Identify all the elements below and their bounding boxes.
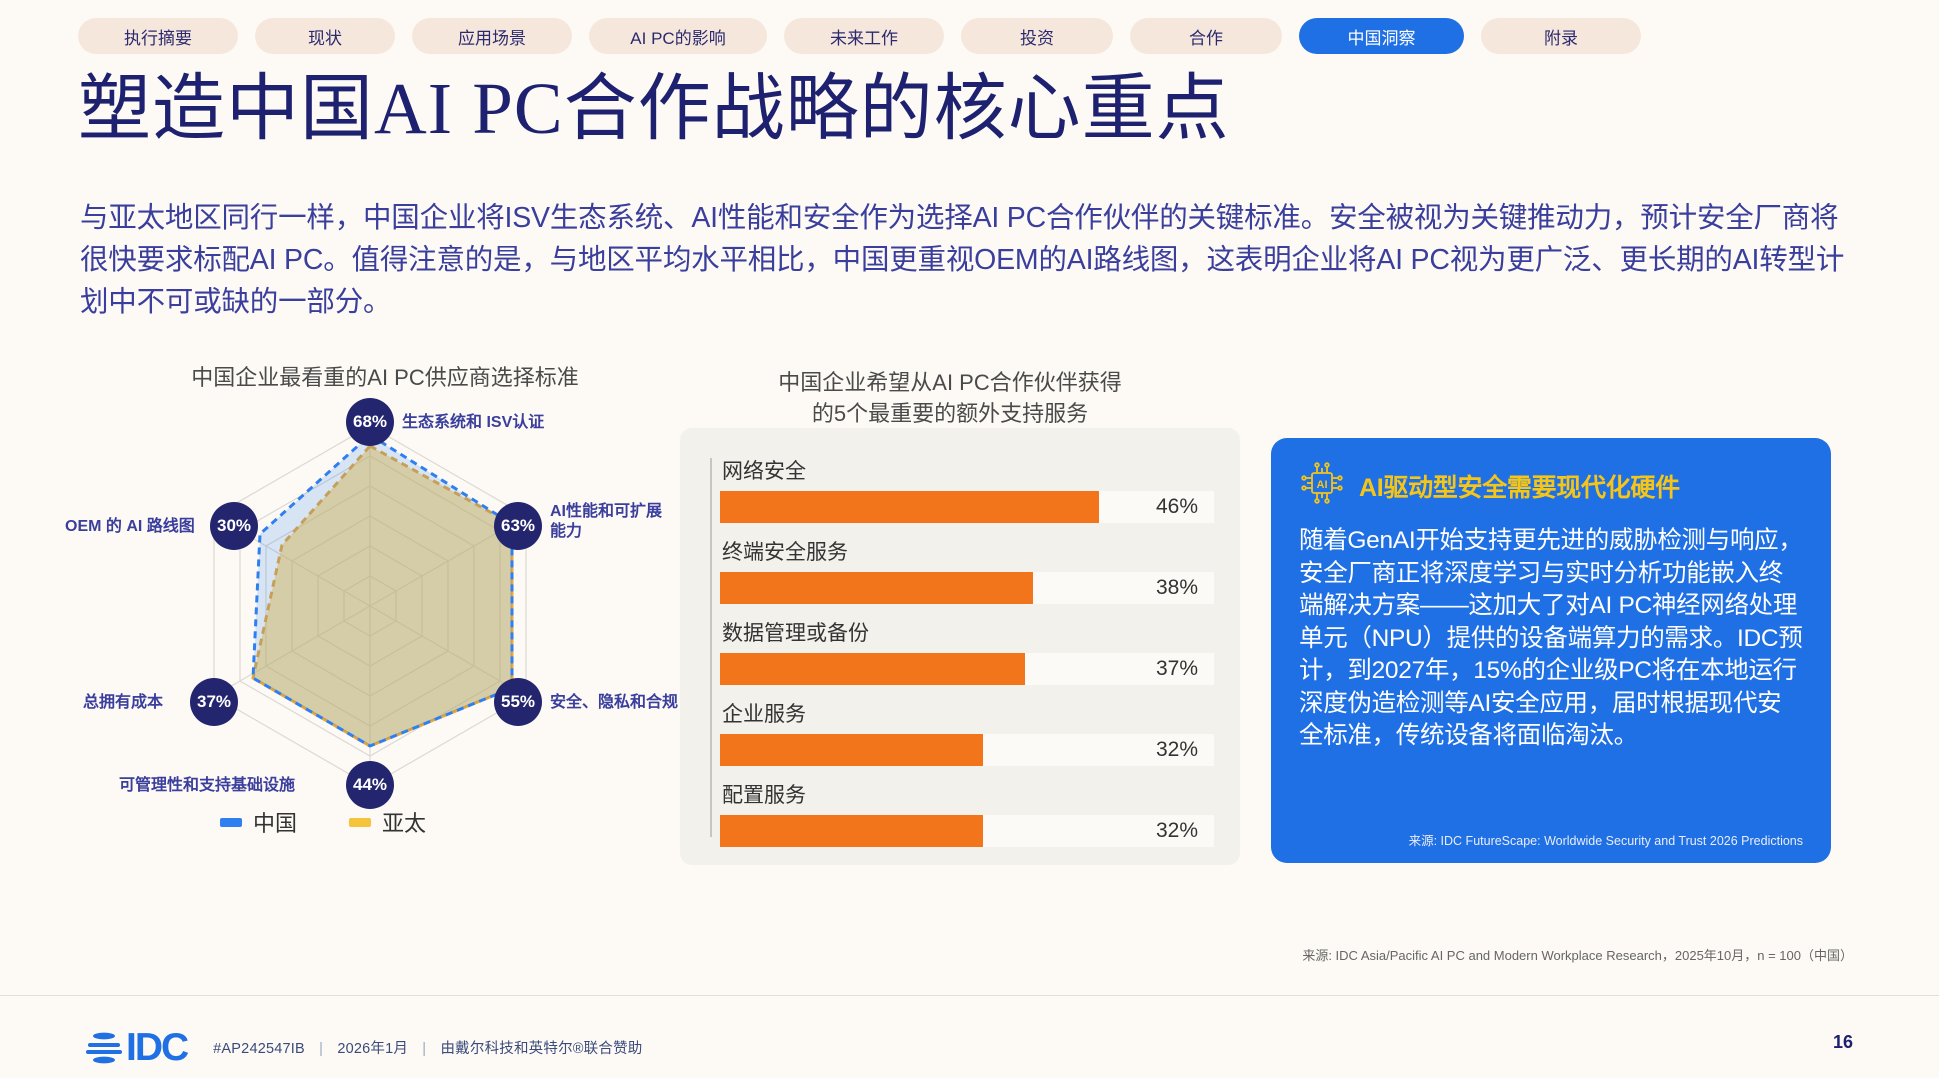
bar-row-label: 企业服务	[720, 687, 1214, 734]
source-note: 来源: IDC Asia/Pacific AI PC and Modern Wo…	[1302, 945, 1853, 964]
nav-tab-7-active[interactable]: 中国洞察	[1299, 18, 1464, 54]
nav-tab-label: 未来工作	[830, 24, 898, 49]
radar-value-node-5: 30%	[210, 502, 258, 550]
bar-fill	[720, 653, 1025, 685]
bar-track: 32%	[720, 734, 1214, 766]
nav-tab-4[interactable]: 未来工作	[784, 18, 944, 54]
footer: IDC #AP242547IB | 2026年1月 | 由戴尔科技和英特尔®联合…	[86, 1028, 642, 1067]
idc-logo: IDC	[86, 1028, 187, 1067]
page-title: 塑造中国AI PC合作战略的核心重点	[78, 72, 1230, 145]
nav-tab-label: 合作	[1189, 24, 1223, 49]
callout-source: 来源: IDC FutureScape: Worldwide Security …	[1409, 830, 1803, 849]
legend-item-asia-pacific: 亚太	[349, 806, 426, 838]
radar-axis-label-0: 生态系统和 ISV认证	[402, 413, 544, 433]
nav-tab-3[interactable]: AI PC的影响	[589, 18, 767, 54]
bar-fill	[720, 491, 1099, 523]
idc-wordmark: IDC	[126, 1028, 187, 1067]
radar-series-china	[253, 435, 512, 746]
bar-track: 37%	[720, 653, 1214, 685]
radar-axis-label-5: OEM 的 AI 路线图	[65, 517, 195, 537]
footer-date: 2026年1月	[337, 1041, 408, 1057]
bar-row-label: 配置服务	[720, 768, 1214, 815]
radar-axis-label-2: 安全、隐私和合规	[550, 693, 678, 713]
nav-tab-label: 中国洞察	[1348, 24, 1416, 49]
bar-chart-card: 网络安全 46% 终端安全服务 38% 数据管理或备份 37% 企业服务	[680, 428, 1240, 865]
ai-chip-icon: AI	[1299, 460, 1345, 511]
callout-title: AI驱动型安全需要现代化硬件	[1359, 468, 1680, 504]
nav-tab-label: 附录	[1544, 24, 1578, 49]
nav-tab-label: 投资	[1020, 24, 1054, 49]
bar-chart-title: 中国企业希望从AI PC合作伙伴获得 的5个最重要的额外支持服务	[700, 368, 1200, 430]
bar-fill	[720, 815, 983, 847]
callout-header: AI AI驱动型安全需要现代化硬件	[1299, 460, 1803, 511]
footer-divider	[0, 995, 1939, 996]
radar-chart-svg	[70, 406, 730, 836]
footer-meta: #AP242547IB | 2026年1月 | 由戴尔科技和英特尔®联合赞助	[213, 1037, 642, 1058]
bar-value-label: 37%	[1156, 657, 1198, 681]
radar-axis-label-4: 总拥有成本	[83, 693, 163, 713]
radar-value-node-0: 68%	[346, 398, 394, 446]
radar-value-node-1: 63%	[494, 502, 542, 550]
legend-label: 中国	[253, 806, 297, 838]
nav-tab-label: 执行摘要	[124, 24, 192, 49]
bar-track: 46%	[720, 491, 1214, 523]
radar-value-node-3: 44%	[346, 761, 394, 809]
bar-fill	[720, 572, 1033, 604]
nav-tab-label: 现状	[308, 24, 342, 49]
idc-globe-icon	[86, 1029, 122, 1067]
nav-tab-6[interactable]: 合作	[1130, 18, 1282, 54]
nav-tab-5[interactable]: 投资	[961, 18, 1113, 54]
radar-axis-label-1: AI性能和可扩展能力	[550, 502, 670, 542]
nav-tab-0[interactable]: 执行摘要	[78, 18, 238, 54]
bar-row-label: 数据管理或备份	[720, 606, 1214, 653]
bar-row: 企业服务 32%	[710, 687, 1214, 766]
radar-chart-panel: 中国企业最看重的AI PC供应商选择标准 6	[70, 360, 730, 836]
bar-row-label: 终端安全服务	[720, 525, 1214, 572]
radar-value-node-2: 55%	[494, 678, 542, 726]
footer-separator: |	[319, 1041, 323, 1057]
nav-tab-1[interactable]: 现状	[255, 18, 395, 54]
nav-tab-label: 应用场景	[458, 24, 526, 49]
radar-legend: 中国 亚太	[220, 806, 426, 838]
bar-track: 38%	[720, 572, 1214, 604]
bar-value-label: 38%	[1156, 576, 1198, 600]
bar-track: 32%	[720, 815, 1214, 847]
nav-tab-2[interactable]: 应用场景	[412, 18, 572, 54]
callout-panel: AI AI驱动型安全需要现代化硬件 随着GenAI开始支持更先进的威胁检测与响应…	[1271, 438, 1831, 863]
legend-item-china: 中国	[220, 806, 297, 838]
radar-chart-area: 68% 生态系统和 ISV认证 63% AI性能和可扩展能力 55% 安全、隐私…	[70, 406, 730, 836]
page-number: 16	[1833, 1032, 1853, 1053]
bar-value-label: 32%	[1156, 819, 1198, 843]
radar-value-node-4: 37%	[190, 678, 238, 726]
callout-body: 随着GenAI开始支持更先进的威胁检测与响应，安全厂商正将深度学习与实时分析功能…	[1299, 525, 1803, 753]
footer-separator: |	[422, 1041, 426, 1057]
legend-label: 亚太	[382, 806, 426, 838]
intro-paragraph: 与亚太地区同行一样，中国企业将ISV生态系统、AI性能和安全作为选择AI PC合…	[80, 198, 1855, 324]
bar-value-label: 46%	[1156, 495, 1198, 519]
nav-tab-label: AI PC的影响	[630, 24, 725, 49]
footer-sponsor: 由戴尔科技和英特尔®联合赞助	[440, 1041, 642, 1057]
bar-row-label: 网络安全	[720, 444, 1214, 491]
svg-text:AI: AI	[1317, 479, 1328, 491]
bar-row: 终端安全服务 38%	[710, 525, 1214, 604]
legend-swatch-icon	[220, 818, 242, 827]
radar-chart-title: 中国企业最看重的AI PC供应商选择标准	[40, 360, 730, 392]
bar-chart-rows: 网络安全 46% 终端安全服务 38% 数据管理或备份 37% 企业服务	[706, 444, 1214, 865]
bar-value-label: 32%	[1156, 738, 1198, 762]
bar-fill	[720, 734, 983, 766]
nav-tab-8[interactable]: 附录	[1481, 18, 1641, 54]
footer-doc-id: #AP242547IB	[213, 1041, 305, 1057]
bar-row: 网络安全 46%	[710, 444, 1214, 523]
bar-row: 数据管理或备份 37%	[710, 606, 1214, 685]
bar-row: 配置服务 32%	[710, 768, 1214, 847]
top-nav: 执行摘要 现状 应用场景 AI PC的影响 未来工作 投资 合作 中国洞察 附录	[78, 18, 1899, 54]
radar-axis-label-3: 可管理性和支持基础设施	[119, 776, 295, 796]
legend-swatch-icon	[349, 818, 371, 827]
